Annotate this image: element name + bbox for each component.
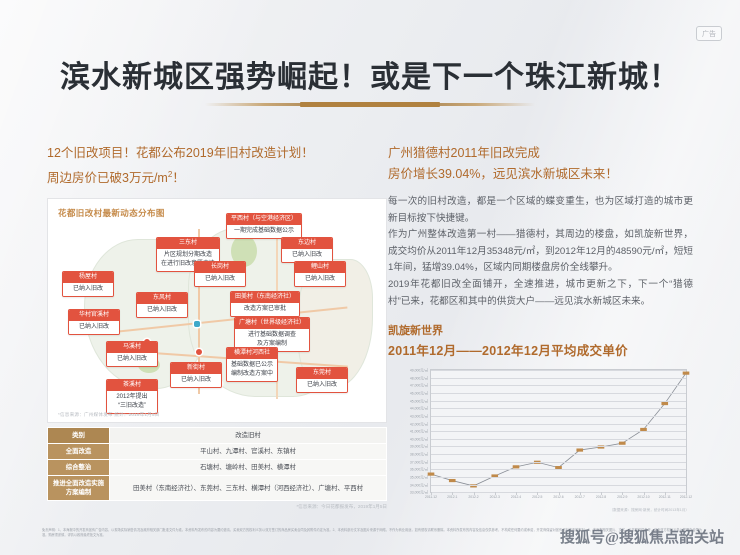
- map-callout[interactable]: 新街村 已纳入旧改: [170, 362, 222, 388]
- table-row: 推进全面改造实施方案编制 田美村（东南经济社）、东莞村、三东村、横潭村（河西经济…: [48, 476, 387, 501]
- map-callout-title: 东边村: [282, 238, 332, 249]
- body-paragraph: 2019年花都旧改全面铺开，全速推进，城市更新之下，下一个“猎德村”已来，花都区…: [388, 277, 693, 310]
- chart-gridline: [431, 446, 686, 447]
- chart-y-tick-label: 41,000元/㎡: [410, 429, 428, 434]
- table-row-key: 类别: [48, 428, 110, 444]
- price-trend-chart: 49,000元/㎡48,000元/㎡47,000元/㎡46,000元/㎡45,0…: [388, 363, 693, 515]
- chart-gridline: [431, 416, 686, 417]
- map-callout-body: 已纳入旧改: [297, 379, 347, 392]
- chart-gridline: [431, 462, 686, 463]
- table-row-key: 推进全面改造实施方案编制: [48, 476, 110, 501]
- site-watermark: 搜狐号@搜狐焦点韶关站: [560, 526, 724, 547]
- map-callout-title: 三东村: [157, 238, 219, 249]
- chart-title: 2011年12月——2012年12月平均成交单价: [388, 340, 693, 359]
- left-lede-line2-text: 周边房价已破3万元/m: [47, 171, 168, 185]
- map-callout-title: 茶溪村: [107, 380, 157, 391]
- map-callout-title: 田美村（东南经济社）: [231, 292, 299, 303]
- body-paragraph: 每一次的旧村改造，都是一个区域的蝶变重生，也为区域打造的城市更新目标按下快捷键。: [388, 194, 693, 227]
- chart-y-tick-label: 49,000元/㎡: [410, 368, 428, 373]
- right-body-copy: 每一次的旧村改造，都是一个区域的蝶变重生，也为区域打造的城市更新目标按下快捷键。…: [388, 194, 693, 310]
- title-divider: [205, 103, 535, 106]
- map-callout-title: 平西村（与空港经济区）: [227, 214, 301, 225]
- chart-x-tick-label: 2012.5: [532, 495, 542, 499]
- chart-x-tick-label: 2012.2: [468, 495, 478, 499]
- map-source-note: *信息来源：广州媒体发布 统计：2019年1月5日: [58, 412, 160, 418]
- chart-gridline: [431, 485, 686, 486]
- left-lede: 12个旧改项目！花都公布2019年旧村改造计划！ 周边房价已破3万元/m2！: [47, 143, 387, 189]
- map-callout-body: 基础数据已公示编制改造方案中: [227, 359, 277, 381]
- chart-y-tick-label: 42,000元/㎡: [410, 421, 428, 426]
- map-title: 花都旧改村最新动态分布图: [58, 207, 165, 219]
- chart-x-tick-label: 2012.10: [637, 495, 649, 499]
- map-callout[interactable]: 东风村 已纳入旧改: [136, 292, 188, 318]
- map-callout[interactable]: 马溪村 已纳入旧改: [106, 341, 158, 367]
- map-callout-body: 已纳入旧改: [107, 353, 157, 366]
- chart-gridline: [431, 378, 686, 379]
- left-lede-line2: 周边房价已破3万元/m2！: [47, 164, 387, 189]
- right-lede-line2: 房价增长39.04%，远见滨水新城区未来！: [388, 164, 693, 185]
- left-lede-line1: 12个旧改项目！花都公布2019年旧村改造计划！: [47, 143, 387, 164]
- map-callout[interactable]: 茶溪村 2012年提出“三旧改造”: [106, 379, 158, 414]
- page-title: 滨水新城区强势崛起！或是下一个珠江新城！: [0, 52, 740, 96]
- map-callout-title: 华村官溪村: [69, 310, 119, 321]
- chart-gridline: [431, 439, 686, 440]
- renovation-village-table: 类别 改造旧村 全面改造 平山村、九潭村、官溪村、东镇村 综合整治 石塘村、塘岭…: [47, 427, 387, 501]
- map-callout[interactable]: 长岗村 已纳入旧改: [194, 261, 246, 287]
- chart-x-tick-label: 2012.3: [490, 495, 500, 499]
- chart-x-tick-label: 2011.12: [425, 495, 437, 499]
- map-callout[interactable]: 杨屋村 已纳入旧改: [62, 271, 114, 297]
- map-callout[interactable]: 华村官溪村 已纳入旧改: [68, 309, 120, 335]
- right-lede-line1: 广州猎德村2011年旧改完成: [388, 143, 693, 164]
- chart-gridline: [431, 424, 686, 425]
- map-callout-body: 已纳入旧改: [63, 283, 113, 296]
- chart-gridline: [431, 408, 686, 409]
- table-row-key: 全面改造: [48, 444, 110, 460]
- chart-gridline: [431, 385, 686, 386]
- chart-x-tick-label: 2012.11: [659, 495, 671, 499]
- chart-y-tick-label: 34,000元/㎡: [410, 482, 428, 487]
- map-callout-title: 东莞村: [297, 368, 347, 379]
- chart-data-point: [449, 479, 456, 482]
- map-callout-body: 已纳入旧改: [171, 374, 221, 387]
- chart-gridline: [431, 393, 686, 394]
- chart-y-tick-label: 39,000元/㎡: [410, 444, 428, 449]
- chart-y-tick-label: 36,000元/㎡: [410, 467, 428, 472]
- map-callout-body: 2012年提出“三旧改造”: [107, 391, 157, 413]
- poster-canvas: 广告 滨水新城区强势崛起！或是下一个珠江新城！ 12个旧改项目！花都公布2019…: [0, 0, 740, 555]
- chart-y-tick-label: 44,000元/㎡: [410, 406, 428, 411]
- table-row-key: 综合整治: [48, 460, 110, 476]
- renovation-map-card: 花都旧改村最新动态分布图 平西村（与空港经济区） 一期完成基础数据公示: [47, 198, 387, 423]
- table-row-value: 田美村（东南经济社）、东莞村、三东村、横潭村（河西经济社）、广塘村、平西村: [110, 476, 387, 501]
- chart-x-tick-label: 2012.6: [553, 495, 563, 499]
- map-station-marker: [194, 321, 200, 327]
- chart-gridline: [431, 454, 686, 455]
- map-callout[interactable]: 平西村（与空港经济区） 一期完成基础数据公示: [226, 213, 302, 239]
- table-source-note: *信息来源：今日花都报发布，2019年1月5日: [47, 504, 387, 510]
- chart-x-tick-label: 2012.4: [511, 495, 521, 499]
- chart-y-tick-label: 37,000元/㎡: [410, 459, 428, 464]
- map-callout-body: 改造方案已审批: [231, 303, 299, 316]
- map-callout[interactable]: 东莞村 已纳入旧改: [296, 367, 348, 393]
- map-callout-title: 长岗村: [195, 262, 245, 273]
- map-callout[interactable]: 鲤山村 已纳入旧改: [294, 261, 346, 287]
- chart-x-tick-label: 2012.7: [575, 495, 585, 499]
- chart-subject: 凯旋新世界: [388, 322, 693, 338]
- chart-x-tick-label: 2012.12: [680, 495, 692, 499]
- ad-badge: 广告: [696, 26, 722, 41]
- map-callout-title: 马溪村: [107, 342, 157, 353]
- map-callout-title: 新街村: [171, 363, 221, 374]
- table-row-value: 改造旧村: [110, 428, 387, 444]
- table-row: 综合整治 石塘村、塘岭村、田美村、横潭村: [48, 460, 387, 476]
- body-paragraph: 作为广州整体改造第一村——猎德村，其周边的楼盘，如凯旋新世界，成交均价从2011…: [388, 227, 693, 277]
- chart-data-point: [683, 372, 690, 375]
- map-callout-title: 横潭村河西社: [227, 348, 277, 359]
- chart-y-tick-label: 43,000元/㎡: [410, 413, 428, 418]
- table-row-value: 石塘村、塘岭村、田美村、横潭村: [110, 460, 387, 476]
- chart-data-point: [619, 442, 626, 445]
- chart-y-tick-label: 48,000元/㎡: [410, 375, 428, 380]
- chart-gridline: [431, 370, 686, 371]
- chart-y-tick-label: 47,000元/㎡: [410, 383, 428, 388]
- map-callout-body: 已纳入旧改: [69, 321, 119, 334]
- left-lede-line2-end: ！: [172, 171, 185, 185]
- chart-y-tick-label: 35,000元/㎡: [410, 474, 428, 479]
- chart-y-tick-label: 33,000元/㎡: [410, 490, 428, 495]
- map-callout-body: 已纳入旧改: [195, 273, 245, 286]
- chart-x-tick-label: 2012.9: [617, 495, 627, 499]
- map-callout-body: 已纳入旧改: [137, 304, 187, 317]
- map-callout[interactable]: 田美村（东南经济社） 改造方案已审批: [230, 291, 300, 317]
- chart-y-tick-label: 40,000元/㎡: [410, 436, 428, 441]
- map-callout-title: 鲤山村: [295, 262, 345, 273]
- chart-x-tick-label: 2012.8: [596, 495, 606, 499]
- left-column: 12个旧改项目！花都公布2019年旧村改造计划！ 周边房价已破3万元/m2！ 花…: [47, 143, 387, 510]
- chart-gridline: [431, 469, 686, 470]
- chart-data-point: [513, 465, 520, 468]
- map-callout-body: 已纳入旧改: [295, 273, 345, 286]
- chart-data-point: [661, 402, 668, 405]
- map-callout-title: 杨屋村: [63, 272, 113, 283]
- table-row-value: 平山村、九潭村、官溪村、东镇村: [110, 444, 387, 460]
- chart-y-tick-label: 38,000元/㎡: [410, 452, 428, 457]
- table-row: 全面改造 平山村、九潭村、官溪村、东镇村: [48, 444, 387, 460]
- chart-gridline: [431, 477, 686, 478]
- map-callout-title: 东风村: [137, 293, 187, 304]
- map-callout[interactable]: 东边村 已纳入旧改: [281, 237, 333, 263]
- right-column: 广州猎德村2011年旧改完成 房价增长39.04%，远见滨水新城区未来！ 每一次…: [388, 143, 693, 515]
- chart-gridline: [431, 431, 686, 432]
- map-callout-title: 广塘村（世界级经济社）: [235, 318, 309, 329]
- chart-gridline: [431, 401, 686, 402]
- map-callout[interactable]: 横潭村河西社 基础数据已公示编制改造方案中: [226, 347, 278, 382]
- chart-data-point: [576, 449, 583, 452]
- right-lede: 广州猎德村2011年旧改完成 房价增长39.04%，远见滨水新城区未来！: [388, 143, 693, 185]
- chart-y-tick-label: 45,000元/㎡: [410, 398, 428, 403]
- table-row: 类别 改造旧村: [48, 428, 387, 444]
- chart-plot-area: 49,000元/㎡48,000元/㎡47,000元/㎡46,000元/㎡45,0…: [430, 369, 687, 493]
- chart-data-point: [428, 473, 435, 476]
- chart-source-note: （数据来源：搜房网·新房，统计时间2013年1月）: [610, 508, 689, 513]
- chart-x-tick-label: 2012.1: [447, 495, 457, 499]
- chart-y-tick-label: 46,000元/㎡: [410, 391, 428, 396]
